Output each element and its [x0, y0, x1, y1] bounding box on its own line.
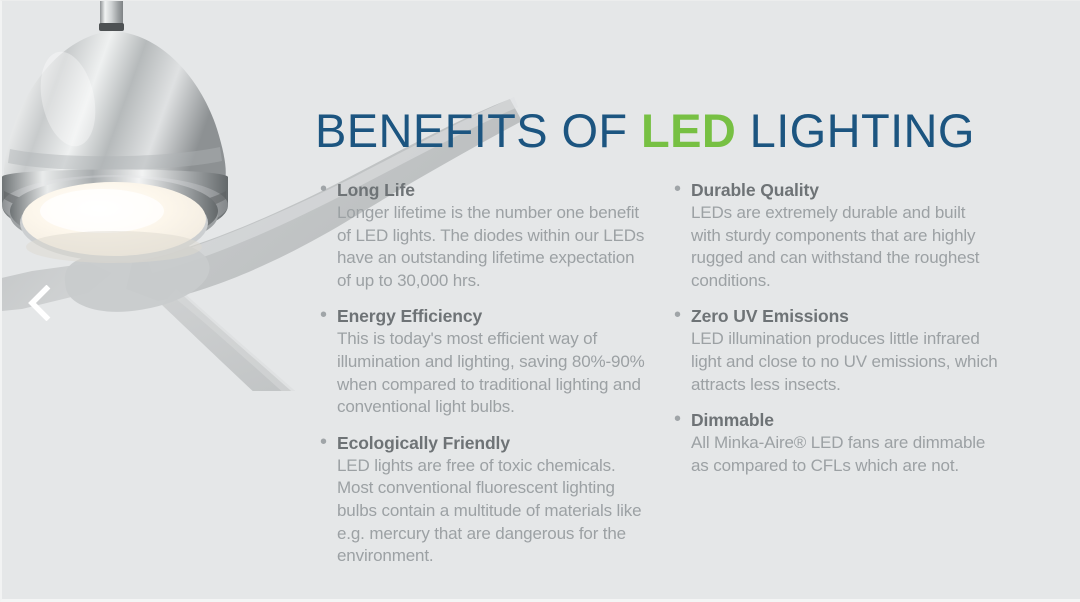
benefit-body: LED illumination produces little infrare…	[691, 328, 999, 396]
prev-slide-button[interactable]	[18, 279, 60, 327]
benefits-columns: • Long Life Longer lifetime is the numbe…	[315, 180, 1015, 568]
title-part-before: BENEFITS OF	[315, 104, 641, 157]
benefit-body: All Minka-Aire® LED fans are dimmable as…	[691, 432, 999, 477]
benefit-heading: • Long Life	[315, 180, 647, 200]
benefit-body: LEDs are extremely durable and built wit…	[691, 202, 999, 292]
benefit-title: Zero UV Emissions	[691, 306, 849, 326]
bullet-icon: •	[315, 180, 337, 199]
slide-container: BENEFITS OF LED LIGHTING • Long Life Lon…	[0, 0, 1080, 602]
benefit-title: Durable Quality	[691, 180, 819, 200]
benefits-right-column: • Durable Quality LEDs are extremely dur…	[669, 180, 999, 568]
benefit-title: Ecologically Friendly	[337, 433, 510, 453]
bullet-icon: •	[315, 306, 337, 325]
benefit-heading: • Dimmable	[669, 410, 999, 430]
benefit-body: This is today's most efficient way of il…	[337, 328, 647, 418]
benefit-item: • Dimmable All Minka-Aire® LED fans are …	[669, 410, 999, 477]
benefit-item: • Energy Efficiency This is today's most…	[315, 306, 647, 418]
title-accent-led: LED	[641, 104, 736, 157]
benefit-item: • Durable Quality LEDs are extremely dur…	[669, 180, 999, 292]
page-title: BENEFITS OF LED LIGHTING	[315, 107, 1015, 154]
bullet-icon: •	[669, 180, 691, 199]
benefit-body: LED lights are free of toxic chemicals. …	[337, 455, 647, 568]
benefit-heading: • Ecologically Friendly	[315, 433, 647, 453]
bullet-icon: •	[315, 433, 337, 452]
benefit-heading: • Durable Quality	[669, 180, 999, 200]
benefit-heading: • Zero UV Emissions	[669, 306, 999, 326]
benefit-body: Longer lifetime is the number one benefi…	[337, 202, 647, 292]
title-part-after: LIGHTING	[736, 104, 975, 157]
benefit-item: • Long Life Longer lifetime is the numbe…	[315, 180, 647, 292]
benefit-item: • Ecologically Friendly LED lights are f…	[315, 433, 647, 568]
bullet-icon: •	[669, 410, 691, 429]
chevron-left-icon	[26, 285, 52, 321]
bullet-icon: •	[669, 306, 691, 325]
benefit-heading: • Energy Efficiency	[315, 306, 647, 326]
benefit-item: • Zero UV Emissions LED illumination pro…	[669, 306, 999, 396]
slide-content: BENEFITS OF LED LIGHTING • Long Life Lon…	[315, 107, 1015, 568]
benefits-left-column: • Long Life Longer lifetime is the numbe…	[315, 180, 647, 568]
benefit-title: Dimmable	[691, 410, 774, 430]
benefit-title: Long Life	[337, 180, 415, 200]
benefit-title: Energy Efficiency	[337, 306, 482, 326]
